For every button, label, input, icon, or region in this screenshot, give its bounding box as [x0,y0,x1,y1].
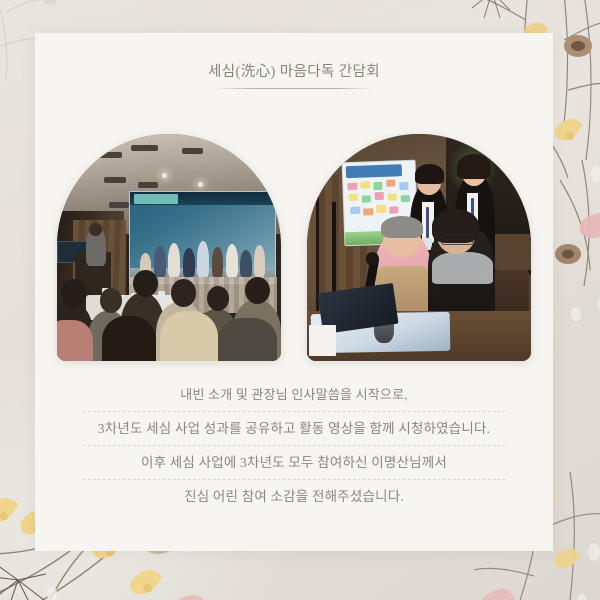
page-title-text: 세심(洗心) 마음다독 간담회 [35,60,553,81]
caption-line-4: 진심 어린 참여 소감을 전해주셨습니다. [35,480,553,514]
title-underline [215,88,373,89]
caption-line-2: 3차년도 세심 사업 성과를 공유하고 활동 영상을 함께 시청하였습니다. [35,412,553,446]
caption-line-3-text: 이후 세심 사업에 3차년도 모두 참여하신 이명산님께서 [141,446,447,480]
page-title: 세심(洗心) 마음다독 간담회 [35,60,553,89]
caption-block: 내빈 소개 및 관장님 인사말씀을 시작으로, 3차년도 세심 사업 성과를 공… [35,378,553,514]
caption-line-4-text: 진심 어린 참여 소감을 전해주셨습니다. [184,480,404,514]
caption-line-3: 이후 세심 사업에 3차년도 모두 참여하신 이명산님께서 [35,446,553,480]
caption-line-1: 내빈 소개 및 관장님 인사말씀을 시작으로, [35,378,553,412]
photo-left[interactable] [57,134,281,361]
photo-right[interactable] [307,134,531,361]
caption-line-2-text: 3차년도 세심 사업 성과를 공유하고 활동 영상을 함께 시청하였습니다. [98,412,490,446]
content-card: 세심(洗心) 마음다독 간담회 [35,33,553,551]
caption-line-1-text: 내빈 소개 및 관장님 인사말씀을 시작으로, [180,378,407,412]
photo-row [57,134,531,361]
poster-canvas: 세심(洗心) 마음다독 간담회 [0,0,600,600]
